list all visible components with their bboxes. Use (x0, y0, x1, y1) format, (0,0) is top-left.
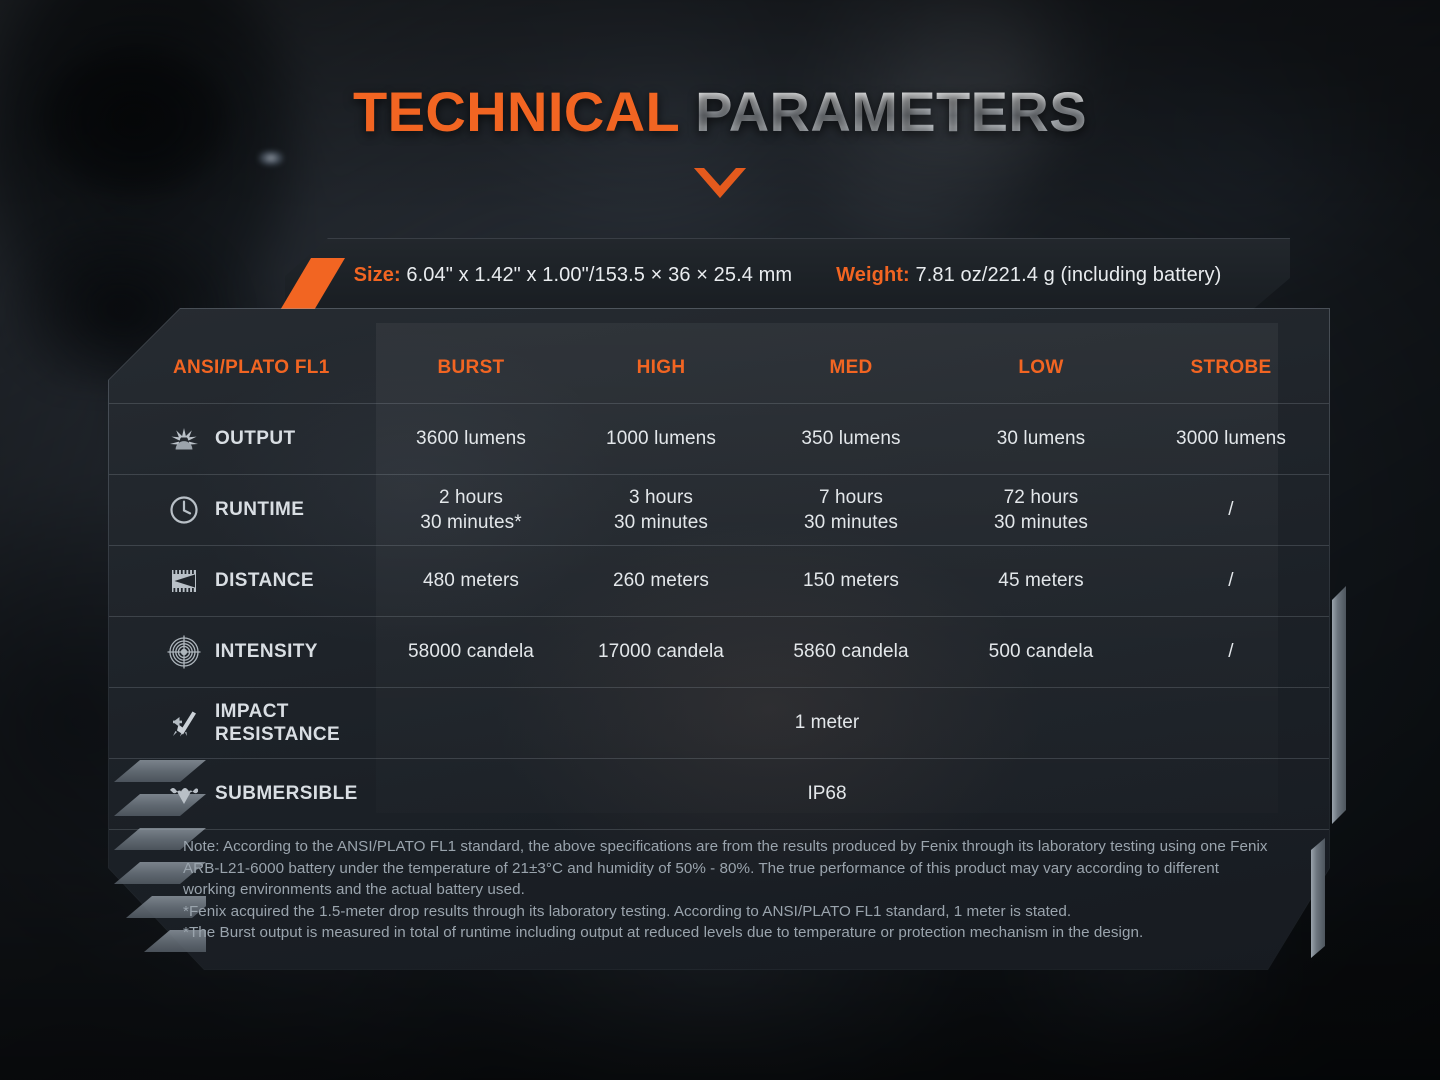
row-label-text: SUBMERSIBLE (215, 782, 358, 805)
cell-intensity-burst: 58000 candela (376, 639, 566, 664)
row-label-impact-resistance: IMPACT RESISTANCE (109, 700, 376, 746)
page-title-block: TECHNICAL PARAMETERS (0, 84, 1440, 205)
cell-intensity-low: 500 candela (946, 639, 1136, 664)
cell-output-med: 350 lumens (756, 426, 946, 451)
row-label-text: DISTANCE (215, 569, 314, 592)
weight-label: Weight: (836, 264, 910, 286)
impact-check-icon (167, 706, 201, 740)
row-label-text: RUNTIME (215, 498, 304, 521)
cell-submersible-value: IP68 (376, 783, 1278, 805)
ruler-beam-icon (167, 564, 201, 598)
cell-output-burst: 3600 lumens (376, 426, 566, 451)
table-header-med: MED (756, 357, 946, 379)
size-value: 6.04" x 1.42" x 1.00"/153.5 × 36 × 25.4 … (406, 264, 792, 286)
table-header-burst: BURST (376, 357, 566, 379)
cell-intensity-strobe: / (1136, 639, 1326, 664)
table-header-row: ANSI/PLATO FL1 BURST HIGH MED LOW STROBE (109, 337, 1329, 399)
cell-runtime-low: 72 hours 30 minutes (946, 485, 1136, 535)
notes-separator (109, 829, 1329, 830)
technical-parameters-page: TECHNICAL PARAMETERS Size: 6.04" x 1.42"… (0, 0, 1440, 1080)
table-row-output: OUTPUT 3600 lumens 1000 lumens 350 lumen… (109, 403, 1329, 474)
row-label-text: OUTPUT (215, 427, 296, 450)
size-label: Size: (354, 264, 401, 286)
table-header-strobe: STROBE (1136, 357, 1326, 379)
page-title-secondary: PARAMETERS (679, 80, 1087, 143)
row-label-intensity: INTENSITY (109, 635, 376, 669)
row-label-text: IMPACT RESISTANCE (215, 700, 340, 746)
row-label-submersible: SUBMERSIBLE (109, 777, 376, 811)
sunburst-icon (167, 422, 201, 456)
size-spec: Size: 6.04" x 1.42" x 1.00"/153.5 × 36 ×… (354, 264, 793, 287)
cell-distance-strobe: / (1136, 568, 1326, 593)
row-label-text: INTENSITY (215, 640, 318, 663)
right-accent-bar-upper (1332, 586, 1346, 824)
cell-output-low: 30 lumens (946, 426, 1136, 451)
table-header-high: HIGH (566, 357, 756, 379)
cell-intensity-high: 17000 candela (566, 639, 756, 664)
clock-icon (167, 493, 201, 527)
row-label-output: OUTPUT (109, 422, 376, 456)
cell-impact-resistance-value: 1 meter (376, 712, 1278, 734)
table-row-runtime: RUNTIME 2 hours 30 minutes* 3 hours 30 m… (109, 474, 1329, 545)
cell-output-high: 1000 lumens (566, 426, 756, 451)
cell-intensity-med: 5860 candela (756, 639, 946, 664)
water-drop-icon (167, 777, 201, 811)
page-title: TECHNICAL PARAMETERS (0, 84, 1440, 140)
footnote-line-2: *Fenix acquired the 1.5-meter drop resul… (183, 901, 1275, 923)
weight-value: 7.81 oz/221.4 g (including battery) (916, 264, 1222, 286)
cell-distance-low: 45 meters (946, 568, 1136, 593)
table-row-submersible: SUBMERSIBLE IP68 (109, 758, 1329, 829)
table-header-standard: ANSI/PLATO FL1 (109, 357, 376, 379)
table-header-low: LOW (946, 357, 1136, 379)
cell-output-strobe: 3000 lumens (1136, 426, 1326, 451)
row-label-runtime: RUNTIME (109, 493, 376, 527)
cell-runtime-med: 7 hours 30 minutes (756, 485, 946, 535)
chevron-down-icon (692, 166, 748, 200)
footnote-line-1: Note: According to the ANSI/PLATO FL1 st… (183, 836, 1275, 901)
footnote-line-3: *The Burst output is measured in total o… (183, 922, 1275, 944)
cell-distance-burst: 480 meters (376, 568, 566, 593)
spec-bar-content: Size: 6.04" x 1.42" x 1.00"/153.5 × 36 ×… (285, 238, 1290, 312)
table-row-distance: DISTANCE 480 meters 260 meters 150 meter… (109, 545, 1329, 616)
table-row-impact-resistance: IMPACT RESISTANCE 1 meter (109, 687, 1329, 758)
table-row-intensity: INTENSITY 58000 candela 17000 candela 58… (109, 616, 1329, 687)
target-icon (167, 635, 201, 669)
weight-spec: Weight: 7.81 oz/221.4 g (including batte… (836, 264, 1221, 287)
cell-distance-med: 150 meters (756, 568, 946, 593)
cell-distance-high: 260 meters (566, 568, 756, 593)
cell-runtime-high: 3 hours 30 minutes (566, 485, 756, 535)
cell-runtime-burst: 2 hours 30 minutes* (376, 485, 566, 535)
cell-runtime-strobe: / (1136, 497, 1326, 522)
row-label-distance: DISTANCE (109, 564, 376, 598)
footnotes: Note: According to the ANSI/PLATO FL1 st… (183, 836, 1275, 944)
page-title-primary: TECHNICAL (353, 80, 679, 143)
